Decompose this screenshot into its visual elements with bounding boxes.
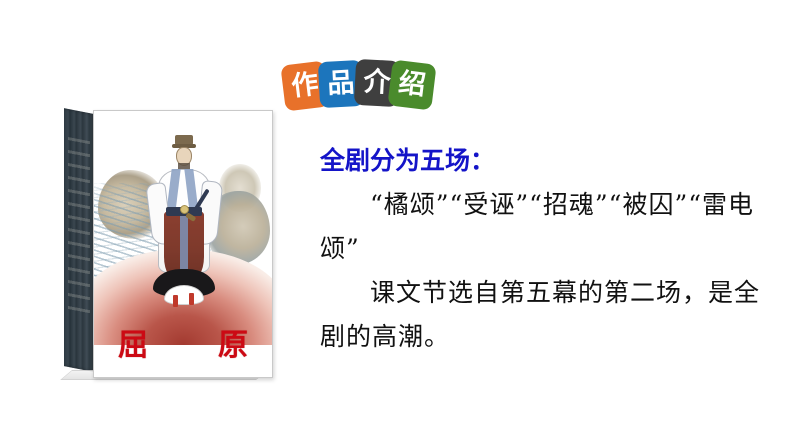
book-title-text: 屈 原 (94, 320, 272, 364)
book-front-cover: 屈 原 (93, 110, 273, 378)
book-spine (64, 108, 94, 372)
slide-canvas: 作 品 介 绍 (0, 0, 794, 447)
section-title-badge: 作 品 介 绍 (283, 57, 463, 113)
figure-hat (175, 135, 193, 145)
qu-yuan-figure (147, 135, 221, 310)
content-text-block: 全剧分为五场： “橘颂”“受诬”“招魂”“被囚”“雷电颂” 课文节选自第五幕的第… (320, 139, 760, 359)
text-heading: 全剧分为五场： (320, 139, 760, 183)
text-paragraph-2: 课文节选自第五幕的第二场，是全剧的高潮。 (320, 271, 760, 359)
book-cover-image: 屈 原 (64, 110, 280, 385)
title-tile-4: 绍 (387, 59, 436, 110)
figure-shoe-left (173, 295, 178, 307)
figure-shoe-right (189, 293, 194, 305)
spine-text-marks (68, 137, 90, 321)
text-paragraph-1: “橘颂”“受诬”“招魂”“被囚”“雷电颂” (320, 183, 760, 271)
